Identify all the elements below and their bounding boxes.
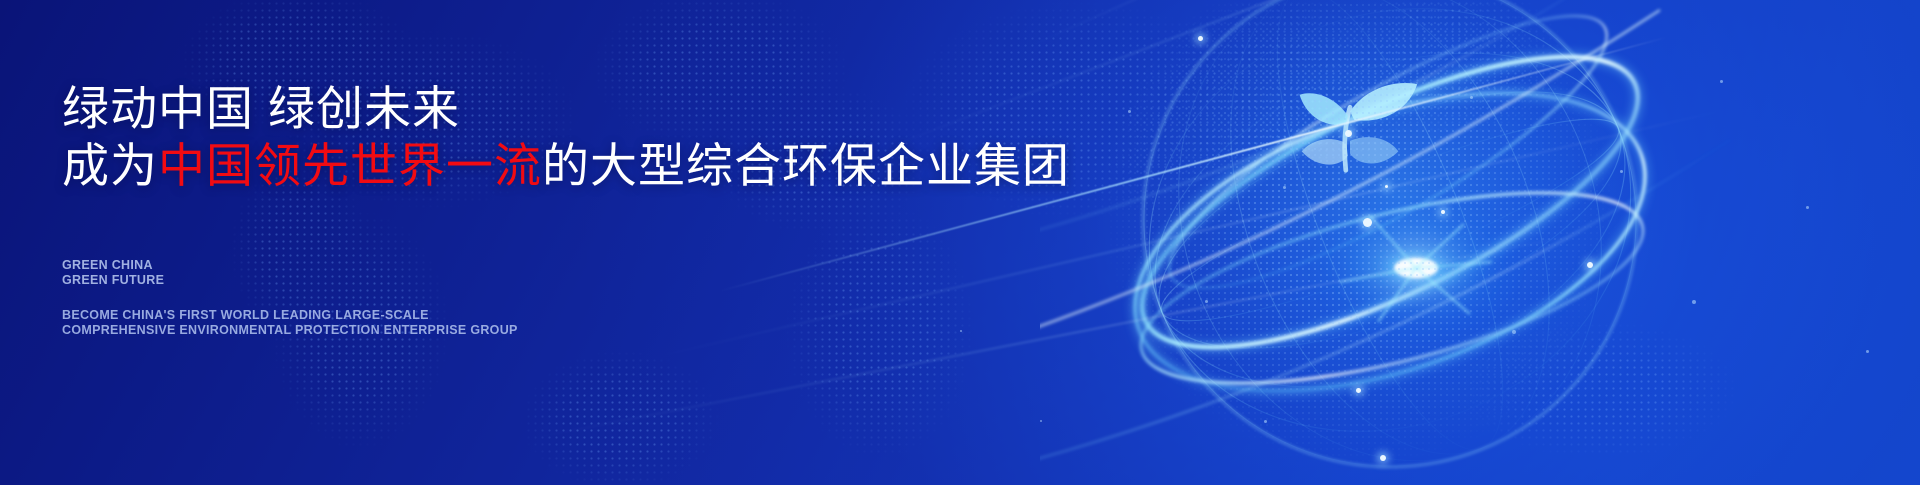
slogan-english: GREEN CHINA GREEN FUTURE bbox=[62, 258, 164, 288]
description-english-line-1: BECOME CHINA'S FIRST WORLD LEADING LARGE… bbox=[62, 308, 518, 323]
headline-line-1: 绿动中国 绿创未来 bbox=[62, 82, 460, 135]
banner-copy: 绿动中国 绿创未来 成为中国领先世界一流的大型综合环保企业集团 GREEN CH… bbox=[62, 0, 1062, 485]
wireframe-globe-icon bbox=[1040, 0, 1740, 485]
headline-line-2-suffix: 的大型综合环保企业集团 bbox=[542, 139, 1070, 192]
slogan-english-line-2: GREEN FUTURE bbox=[62, 273, 164, 288]
sprout-leaf-icon bbox=[1300, 83, 1418, 170]
globe-dot-texture-icon bbox=[1060, 0, 1680, 485]
hero-banner: 绿动中国 绿创未来 成为中国领先世界一流的大型综合环保企业集团 GREEN CH… bbox=[0, 0, 1920, 485]
headline-line-2: 成为中国领先世界一流的大型综合环保企业集团 bbox=[62, 137, 1070, 194]
slogan-english-line-1: GREEN CHINA bbox=[62, 258, 164, 273]
headline-line-2-prefix: 成为 bbox=[62, 139, 158, 192]
description-english: BECOME CHINA'S FIRST WORLD LEADING LARGE… bbox=[62, 308, 518, 338]
description-english-line-2: COMPREHENSIVE ENVIRONMENTAL PROTECTION E… bbox=[62, 323, 518, 338]
headline-line-2-highlight: 中国领先世界一流 bbox=[158, 139, 542, 192]
headline: 绿动中国 绿创未来 成为中国领先世界一流的大型综合环保企业集团 bbox=[62, 80, 1070, 194]
